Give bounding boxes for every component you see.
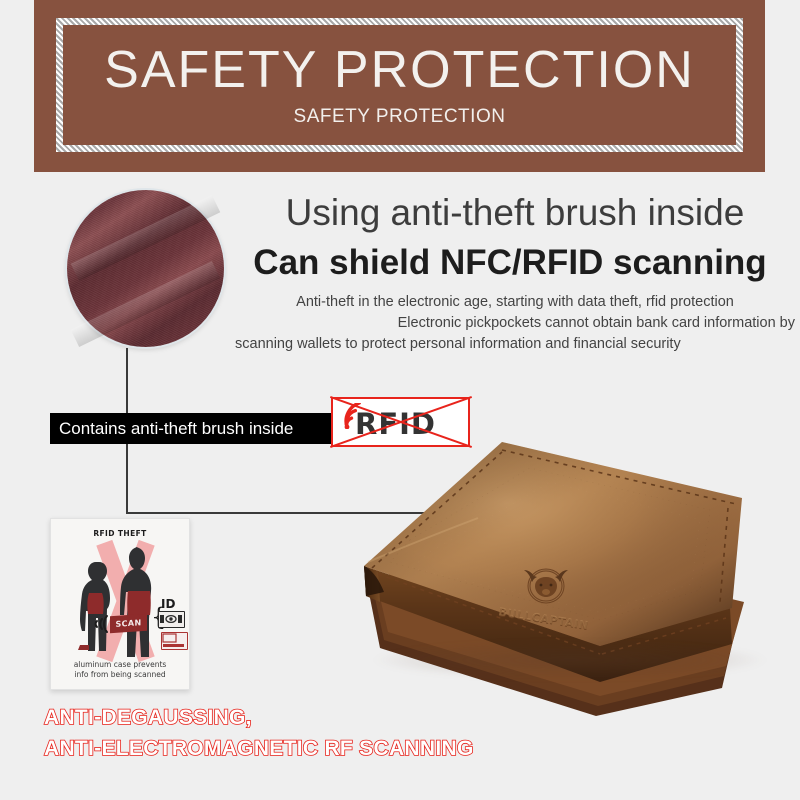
bank-card-icon [161,632,188,650]
product-ad-page: SAFETY PROTECTION SAFETY PROTECTION Usin… [0,0,800,800]
scan-chip-label: SCAN [110,614,147,634]
heading-secondary: Can shield NFC/RFID scanning [225,243,795,283]
fabric-detail-circle [67,190,224,347]
theft-caption-line-1: aluminum case prevents [51,660,189,670]
connector-line-vertical-lower [126,442,128,514]
bottom-text-line-2: ANTI-ELECTROMAGNETIC RF SCANNING [44,733,644,764]
scan-signal-waves-icon [87,611,109,642]
callout-label: Contains anti-theft brush inside [50,413,331,444]
banner-title: SAFETY PROTECTION [104,44,695,96]
banner-subtitle: SAFETY PROTECTION [294,106,506,128]
body-copy-line-3: scanning wallets to protect personal inf… [235,334,795,355]
id-card-icon [158,611,185,628]
theft-card-title: RFID THEFT [51,529,189,538]
wallet-product-image: BULLCAPTAIN BULLCAPTAIN [350,420,800,720]
theft-caption-line-2: info from being scanned [51,670,189,680]
banner-text-block: SAFETY PROTECTION SAFETY PROTECTION [34,0,765,172]
body-copy: Anti-theft in the electronic age, starti… [235,292,795,355]
body-copy-line-1: Anti-theft in the electronic age, starti… [235,292,795,313]
bottom-feature-text: ANTI-DEGAUSSING, ANTI-ELECTROMAGNETIC RF… [44,702,644,764]
connector-line-vertical-upper [126,348,128,414]
wallet-drop-shadow [370,640,770,680]
body-copy-line-2: Electronic pickpockets cannot obtain ban… [235,313,795,334]
header-banner: SAFETY PROTECTION SAFETY PROTECTION [34,0,765,172]
id-label: ID [161,597,175,611]
rfid-theft-info-card: RFID THEFT [50,518,190,690]
bottom-text-line-1: ANTI-DEGAUSSING, [44,702,644,733]
theft-card-caption: aluminum case prevents info from being s… [51,660,189,680]
heading-primary: Using anti-theft brush inside [235,192,795,234]
